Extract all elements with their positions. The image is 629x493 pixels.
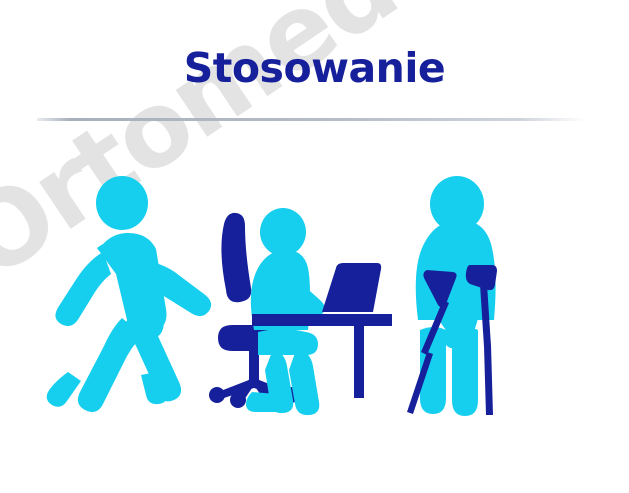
- page-title: Stosowanie: [0, 44, 629, 92]
- chair-backrest: [221, 213, 251, 302]
- seated-person-shin-front: [289, 350, 319, 415]
- crutch-right-lower-shaft: [484, 345, 493, 415]
- walking-person-back-arm: [55, 252, 111, 326]
- title-divider: [37, 118, 586, 121]
- walking-person-back-foot: [47, 372, 81, 407]
- walking-person-figure: [47, 176, 211, 412]
- slide-canvas: Ortomedico.pl Stosowanie: [0, 0, 629, 493]
- crutches-person-leg-right: [452, 327, 478, 416]
- desk-scene-group: [209, 208, 392, 415]
- chair-caster-left: [209, 387, 225, 403]
- laptop: [322, 263, 381, 312]
- desk-top: [252, 314, 392, 326]
- seated-person-foot: [246, 392, 285, 412]
- chair-column: [249, 350, 259, 382]
- seated-person-thigh: [258, 329, 318, 355]
- laptop-screen: [322, 263, 381, 312]
- chair-caster-mid-left: [230, 392, 246, 408]
- seated-person-head: [260, 208, 306, 256]
- desk-leg: [354, 326, 364, 398]
- walking-person-head: [96, 176, 148, 230]
- crutches-person-figure: [407, 176, 497, 416]
